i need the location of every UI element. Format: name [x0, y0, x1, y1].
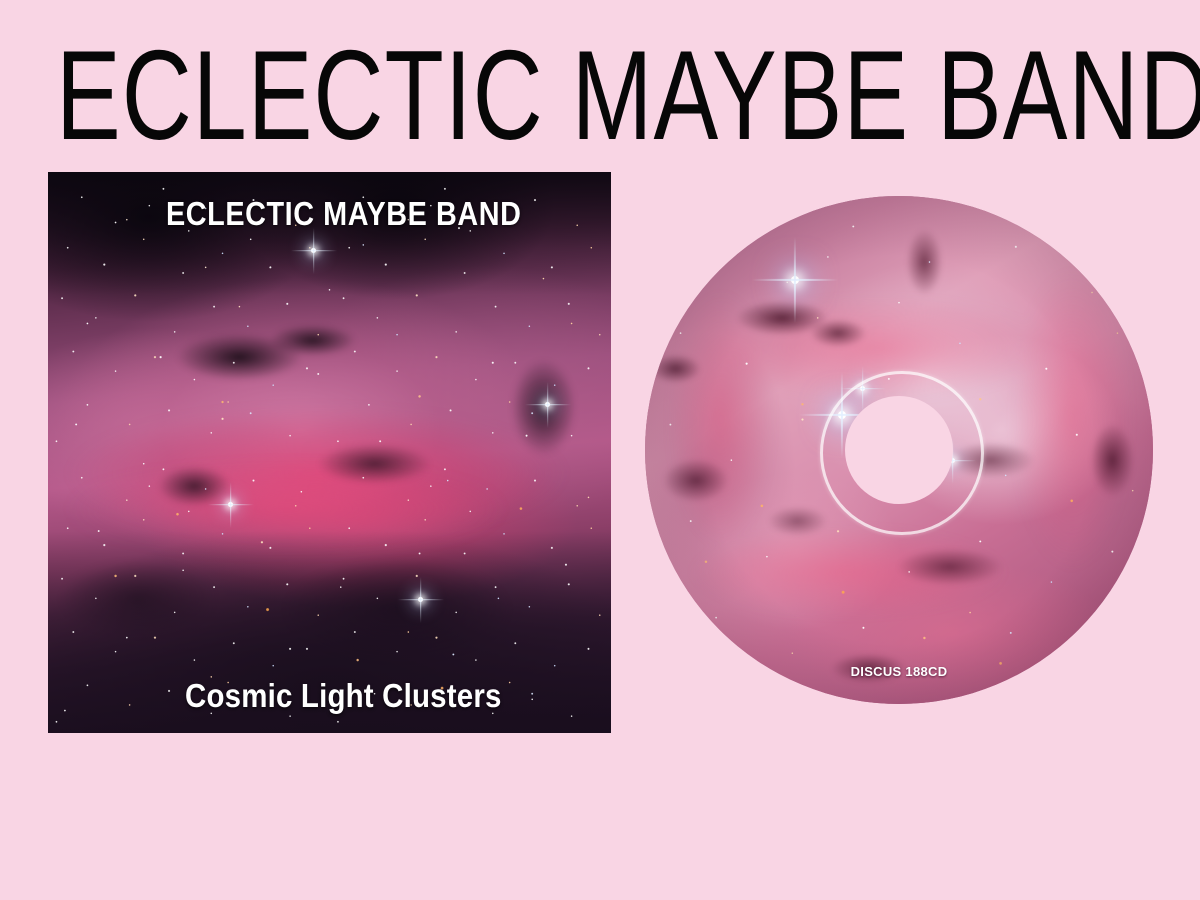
bright-star-icon [311, 248, 316, 253]
promo-artwork-page: ECLECTIC MAYBE BAND ECLECTIC MAYBE BAND … [0, 0, 1200, 900]
album-cover-title: Cosmic Light Clusters [185, 677, 502, 716]
bright-star-icon [545, 402, 550, 407]
cd-disc: DISCUS 188CD [645, 196, 1153, 704]
cd-center-hole [845, 396, 953, 504]
bright-star-icon [418, 597, 423, 602]
album-cover-band-name: ECLECTIC MAYBE BAND [166, 196, 522, 234]
cd-catalog-number: DISCUS 188CD [645, 664, 1153, 679]
bright-star-icon [228, 502, 233, 507]
warm-stars-layer [48, 172, 611, 733]
page-title: ECLECTIC MAYBE BAND [56, 22, 1145, 172]
album-cover-artwork [48, 172, 611, 733]
album-cover: ECLECTIC MAYBE BAND Cosmic Light Cluster… [48, 172, 611, 733]
